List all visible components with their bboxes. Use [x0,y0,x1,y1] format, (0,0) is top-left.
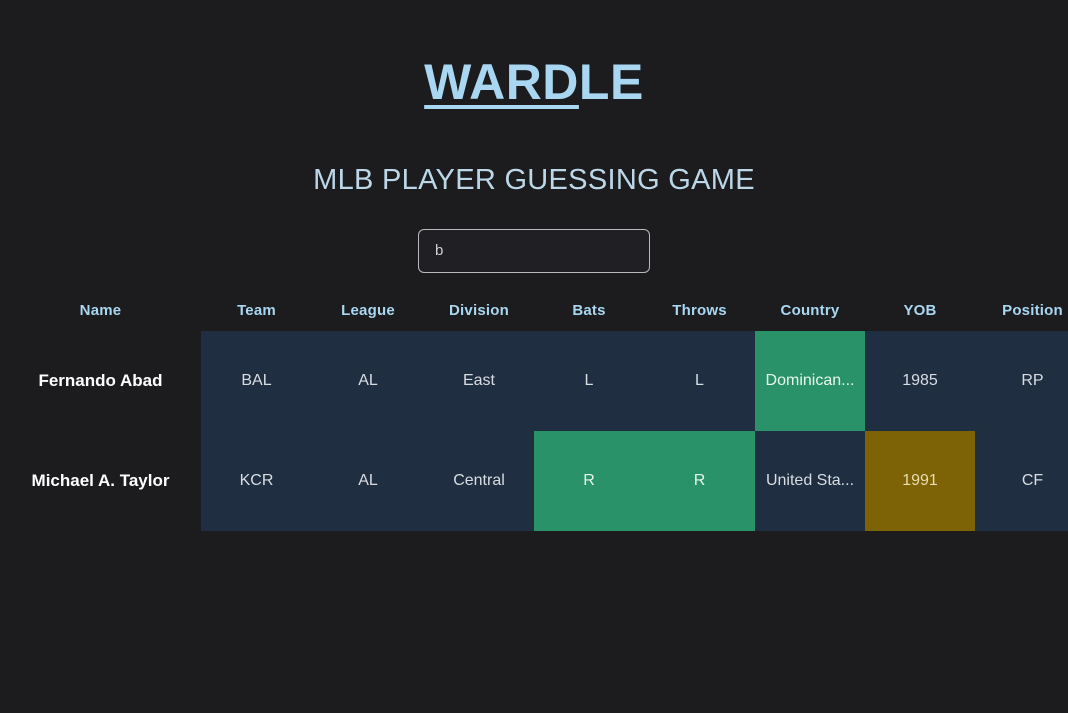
header-team[interactable]: Team [201,302,312,331]
table-row: Fernando Abad BAL AL East L L Dominican.… [0,331,1068,431]
page-title: WARDLE [424,56,644,109]
guess-board-area: Name Team League Division Bats Throws Co… [0,302,1068,531]
cell-throws: L [644,331,755,431]
page-title-underlined-part: WARD [424,54,579,110]
cell-yob: 1991 [865,431,975,531]
header-league[interactable]: League [312,302,424,331]
cell-position: CF [975,431,1068,531]
header-bats[interactable]: Bats [534,302,644,331]
title-container: WARDLE [0,0,1068,142]
page-title-rest: LE [579,54,644,110]
cell-country: Dominican... [755,331,865,431]
table-row: Michael A. Taylor KCR AL Central R R Uni… [0,431,1068,531]
game-page: WARDLE MLB PLAYER GUESSING GAME Name Tea… [0,0,1068,713]
cell-team: KCR [201,431,312,531]
search-row [0,229,1068,273]
cell-position: RP [975,331,1068,431]
header-position[interactable]: Position [975,302,1068,331]
cell-throws: R [644,431,755,531]
cell-league: AL [312,331,424,431]
header-name[interactable]: Name [0,302,201,331]
cell-name: Fernando Abad [0,331,201,431]
guess-board-body: Fernando Abad BAL AL East L L Dominican.… [0,331,1068,531]
page-subtitle: MLB PLAYER GUESSING GAME [0,164,1068,197]
cell-yob: 1985 [865,331,975,431]
header-throws[interactable]: Throws [644,302,755,331]
cell-team: BAL [201,331,312,431]
cell-name: Michael A. Taylor [0,431,201,531]
guess-board-header: Name Team League Division Bats Throws Co… [0,302,1068,331]
header-row: Name Team League Division Bats Throws Co… [0,302,1068,331]
cell-country: United Sta... [755,431,865,531]
header-country[interactable]: Country [755,302,865,331]
cell-division: Central [424,431,534,531]
cell-bats: R [534,431,644,531]
guess-board-table: Name Team League Division Bats Throws Co… [0,302,1068,531]
cell-bats: L [534,331,644,431]
cell-league: AL [312,431,424,531]
header-yob[interactable]: YOB [865,302,975,331]
cell-division: East [424,331,534,431]
header-division[interactable]: Division [424,302,534,331]
player-search-input[interactable] [418,229,650,273]
